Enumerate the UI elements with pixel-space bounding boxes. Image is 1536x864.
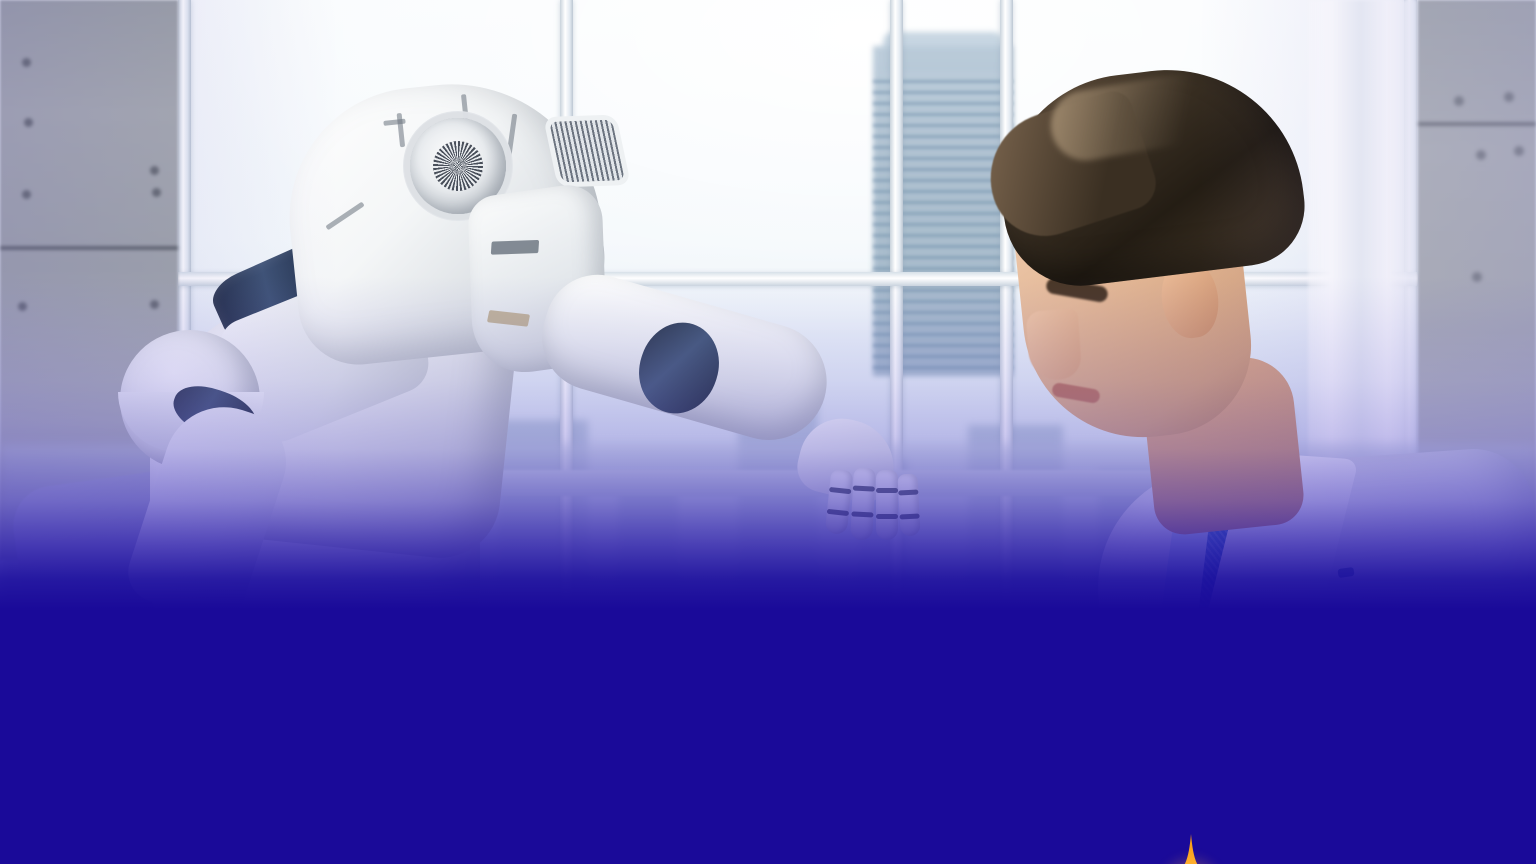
sparkle-star-icon (1136, 832, 1246, 864)
banner-text-block: Propositional Logic in AI Knowledge-Base… (0, 564, 1536, 864)
hero-banner: Propositional Logic in AI Knowledge-Base… (0, 0, 1536, 864)
sparkle-icon (1136, 832, 1246, 864)
sparkle-glow (1156, 853, 1226, 864)
